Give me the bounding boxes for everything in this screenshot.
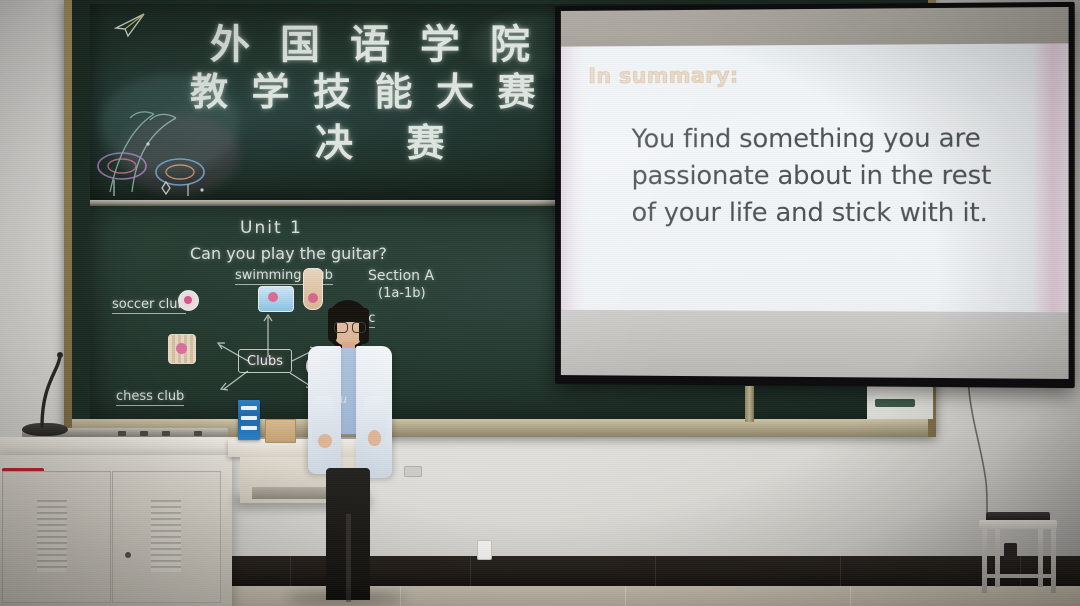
presenter: u (290, 300, 400, 606)
screen-bottom-band (561, 310, 1069, 379)
presenter-shadow (286, 592, 406, 604)
board-title-line2: 教 学 技 能 大 赛 (190, 61, 543, 116)
classroom-scene: 外 国 语 学 院 教 学 技 能 大 赛 决 赛 4·20 (0, 0, 1080, 606)
slide-body-line-1: You find something you are (632, 120, 1032, 158)
paper-plane-icon (114, 12, 148, 38)
board-title-line3: 决 赛 (315, 112, 467, 167)
swimmer-sticker (258, 286, 294, 312)
wall-outlet[interactable] (477, 540, 492, 560)
gooseneck-microphone-icon[interactable] (34, 352, 74, 428)
wall-bracket (404, 466, 422, 477)
screen-support-post (745, 386, 754, 422)
slide-body-text: You find something you are passionate ab… (632, 120, 1032, 232)
stool-crossbar (982, 574, 1056, 578)
power-adapter (1004, 543, 1017, 560)
mindmap-label-soccer: soccer club (112, 297, 186, 314)
console-countertop (0, 437, 246, 457)
board-paper-note (867, 385, 933, 419)
mindmap-center-node: Clubs (238, 349, 292, 373)
console-door-right[interactable] (112, 471, 221, 603)
presenter-hand-left (318, 434, 332, 448)
slide-right-accent-band (1034, 43, 1069, 312)
stool-leg (1051, 529, 1056, 593)
chess-board-sticker (168, 334, 196, 364)
slide-heading: In summary: (588, 63, 738, 88)
stool-leg (995, 529, 1000, 587)
slide-body-line-2: passionate about in the rest (632, 158, 1032, 195)
glasses-icon (334, 322, 364, 331)
presenter-leg-gap (346, 514, 351, 602)
stool-top (979, 520, 1057, 529)
screen-top-band (561, 7, 1069, 47)
mindmap-label-chess: chess club (116, 389, 184, 406)
hanging-cable (930, 378, 1050, 528)
soccer-flower-sticker (178, 290, 199, 311)
slide-left-accent-band (561, 46, 586, 309)
slide-content: In summary: You find something you are p… (561, 43, 1069, 312)
presenter-hand-right (368, 430, 381, 446)
lesson-unit: Unit 1 (240, 218, 303, 238)
teaching-console[interactable] (0, 455, 232, 606)
stool-leg (982, 529, 987, 593)
slide-body-line-3: of your life and stick with it. (632, 195, 1032, 232)
console-door-left[interactable] (2, 471, 111, 603)
blue-package[interactable] (238, 400, 260, 440)
stool-leg (1038, 529, 1043, 587)
projection-screen: In summary: You find something you are p… (555, 2, 1075, 388)
